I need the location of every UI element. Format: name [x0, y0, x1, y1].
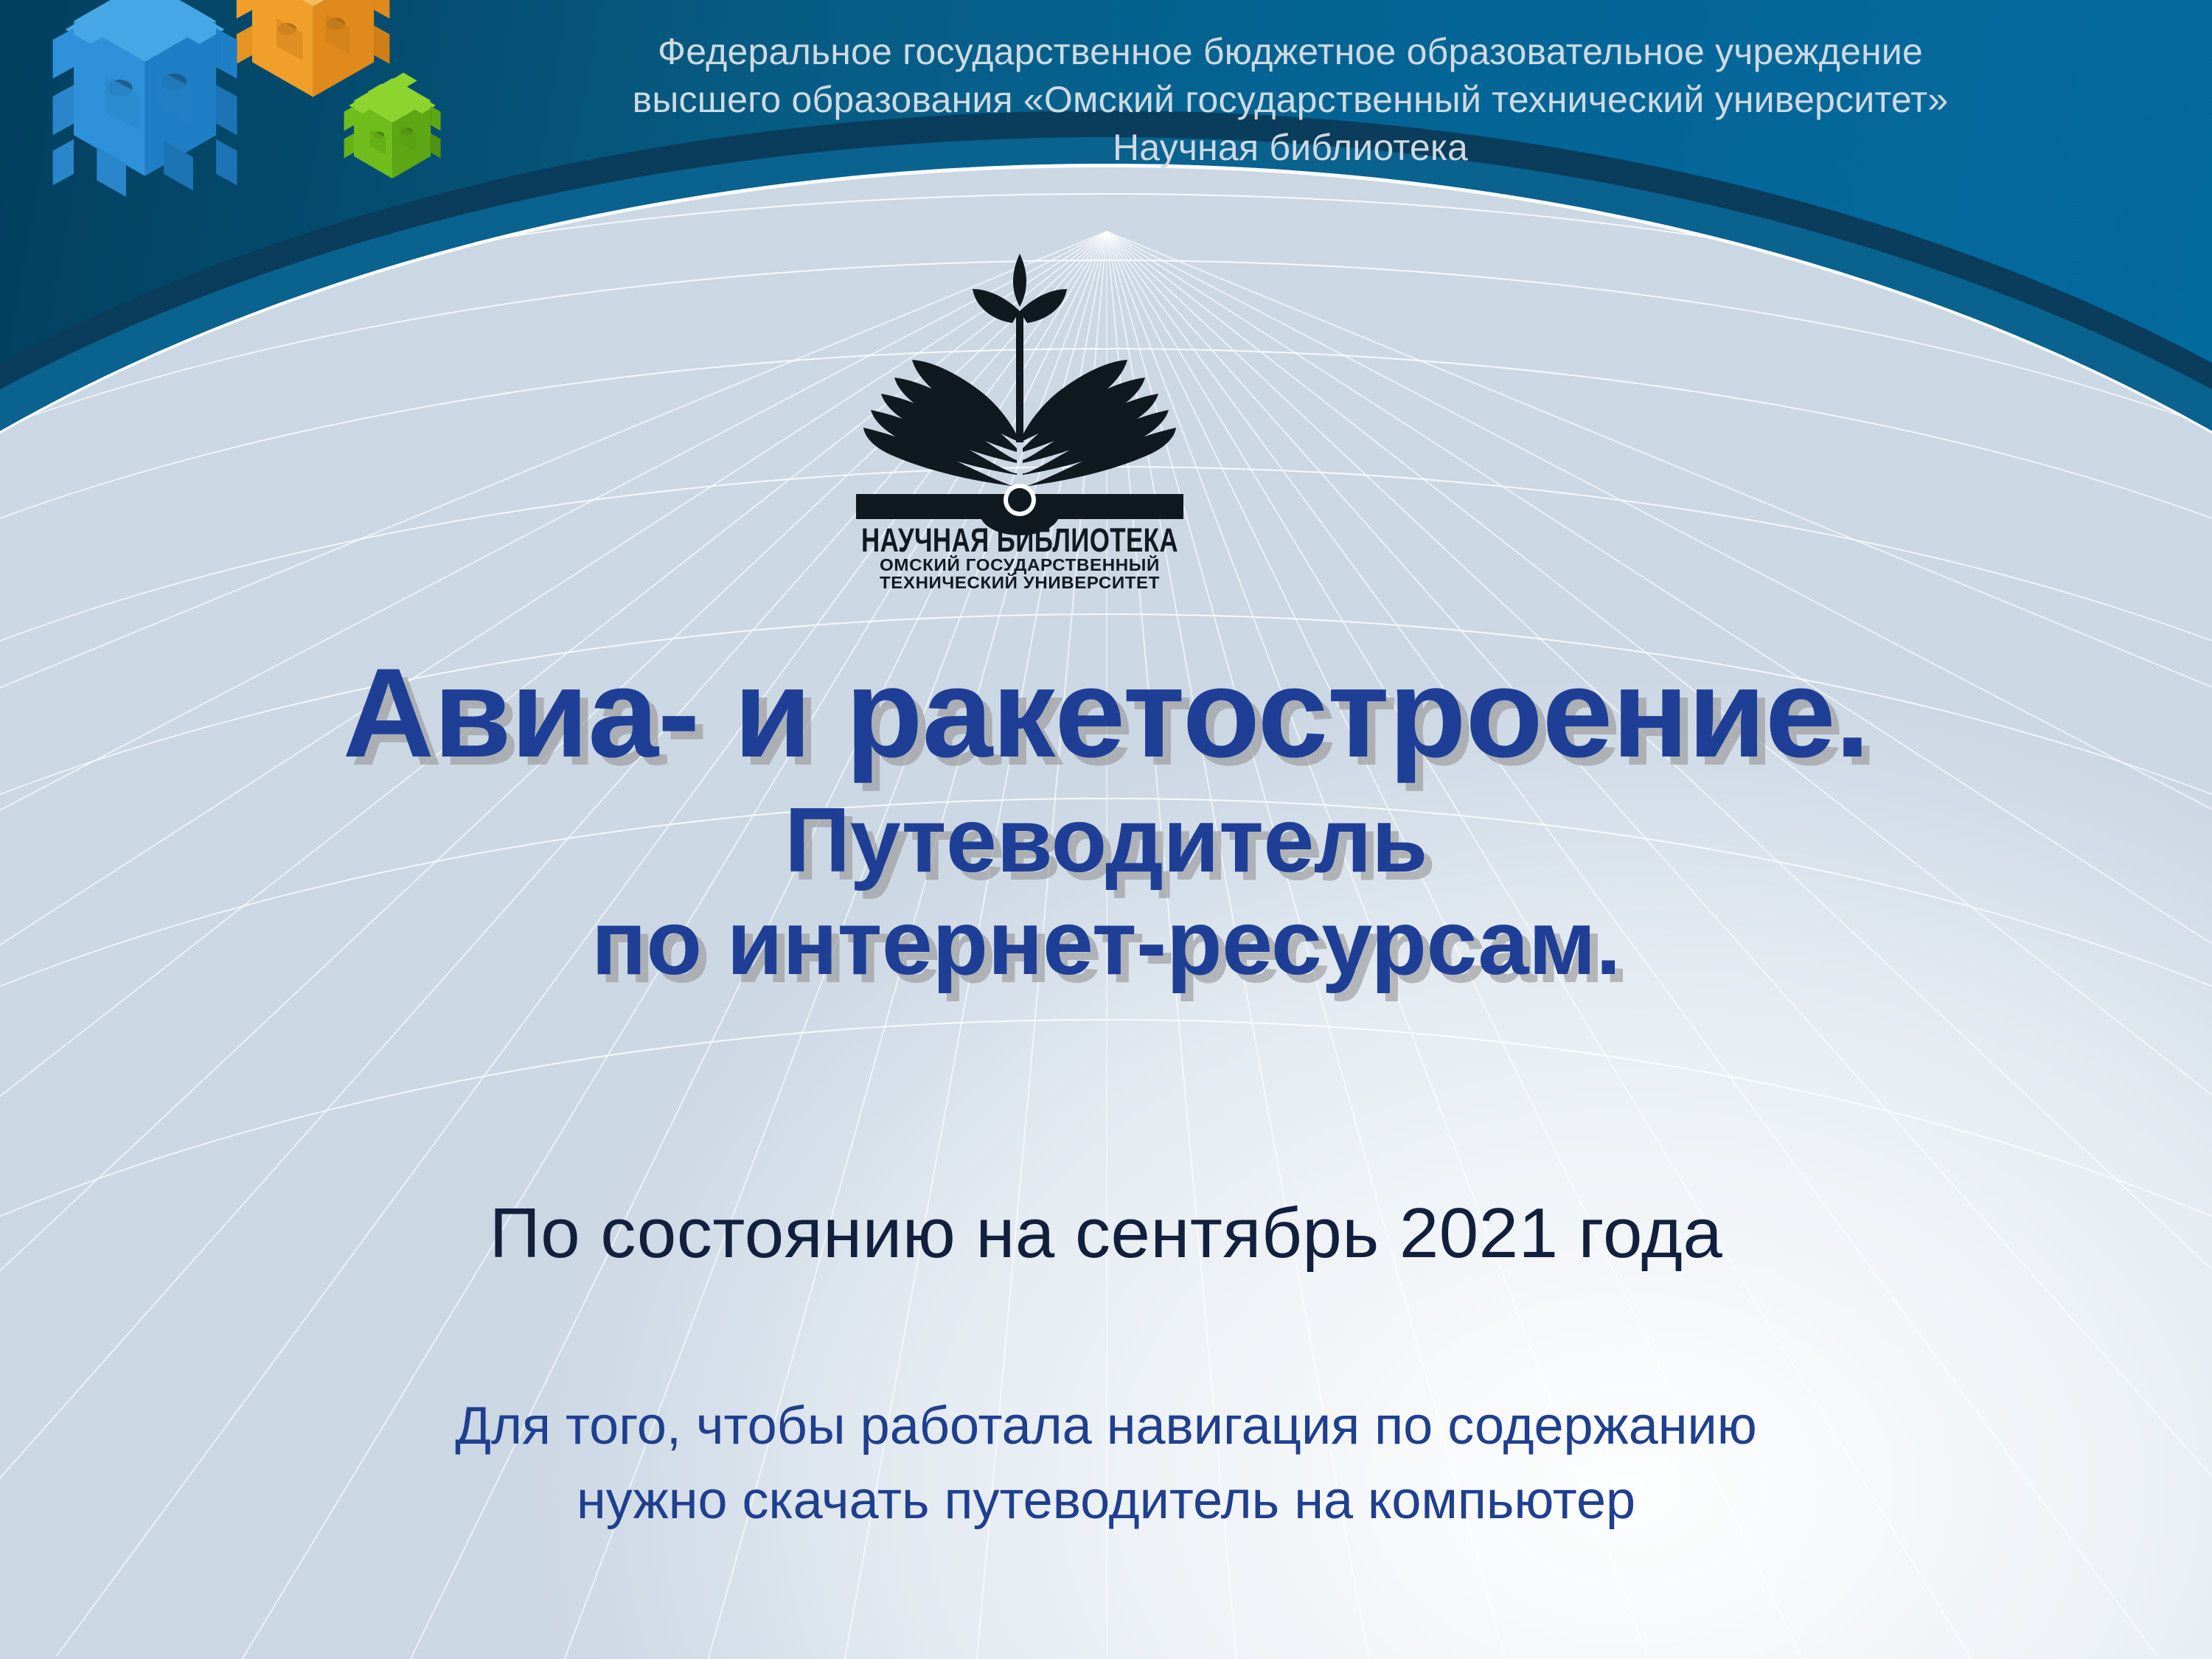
title-line-3: по интернет-ресурсам.	[0, 892, 2212, 995]
orange-puzzle-cube	[237, 0, 390, 97]
title-line-2: Путеводитель	[0, 790, 2212, 892]
logo-org-line-1: ОМСКИЙ ГОСУДАРСТВЕННЫЙ	[880, 554, 1160, 574]
institution-header: Федеральное государственное бюджетное об…	[457, 28, 2124, 172]
blue-puzzle-cube	[53, 0, 237, 197]
open-book-icon	[856, 254, 1183, 535]
green-puzzle-cube	[344, 73, 441, 179]
presentation-slide: Федеральное государственное бюджетное об…	[0, 0, 2212, 1659]
title-line-1: Авиа- и ракетостроение.	[0, 649, 2212, 778]
library-logo: НАУЧНАЯ БИБЛИОТЕКА ОМСКИЙ ГОСУДАРСТВЕННЫ…	[835, 243, 1204, 590]
logo-org-line-2: ТЕХНИЧЕСКИЙ УНИВЕРСИТЕТ	[880, 572, 1160, 590]
slide-title: Авиа- и ракетостроение. Путеводитель по …	[0, 649, 2212, 995]
slide-subtitle-date: По состоянию на сентябрь 2021 года	[0, 1193, 2212, 1274]
slide-footnote: Для того, чтобы работала навигация по со…	[0, 1389, 2212, 1538]
logo-name-line: НАУЧНАЯ БИБЛИОТЕКА	[861, 521, 1178, 559]
